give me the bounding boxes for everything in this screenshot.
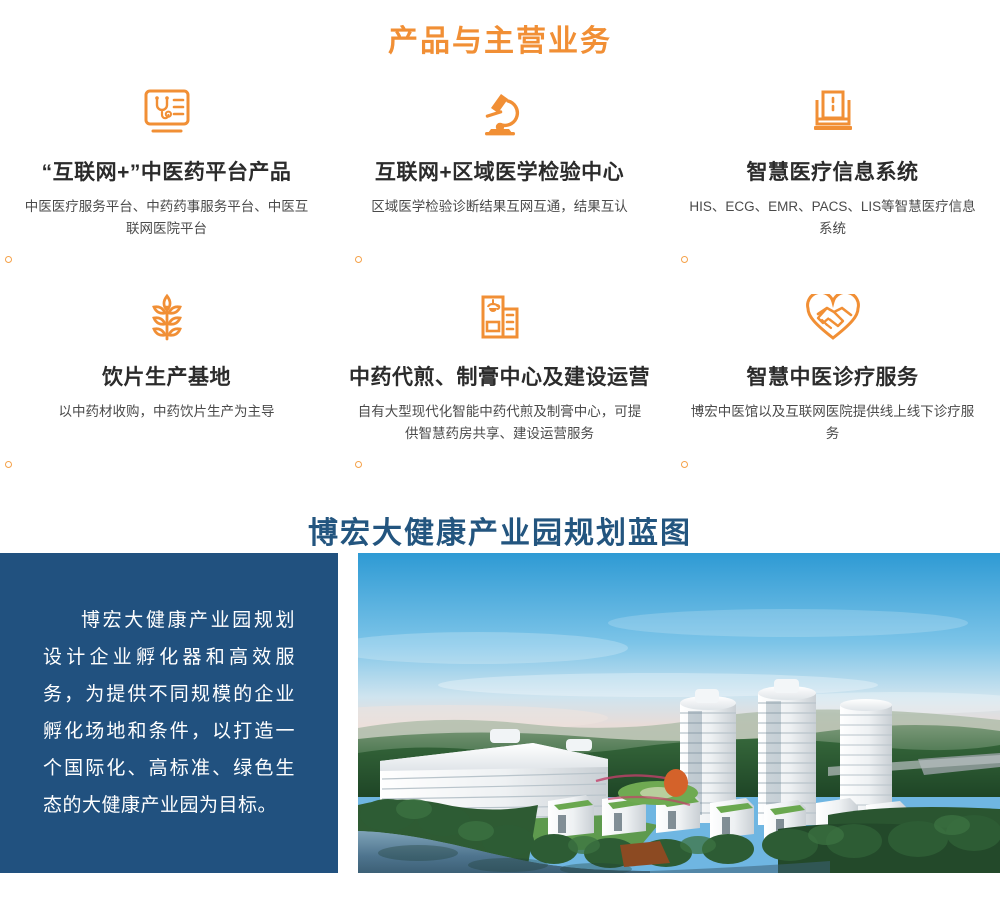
- products-row-1: “互联网+”中医药平台产品 中医医疗服务平台、中药药事服务平台、中医互联网医院平…: [0, 76, 1000, 240]
- product-card-internet-tcm-platform[interactable]: “互联网+”中医药平台产品 中医医疗服务平台、中药药事服务平台、中医互联网医院平…: [0, 76, 333, 240]
- divider-5: [333, 461, 666, 468]
- blueprint-section-title: 博宏大健康产业园规划蓝图: [0, 468, 1000, 554]
- card-description: 博宏中医馆以及互联网医院提供线上线下诊疗服务: [688, 401, 978, 445]
- product-card-tcm-clinic-service[interactable]: 智慧中医诊疗服务 博宏中医馆以及互联网医院提供线上线下诊疗服务: [666, 281, 999, 445]
- products-grid: “互联网+”中医药平台产品 中医医疗服务平台、中药药事服务平台、中医互联网医院平…: [0, 76, 1000, 468]
- divider-dot-icon: [681, 461, 688, 468]
- microscope-icon: [475, 82, 525, 144]
- server-cabinet-icon: [808, 82, 858, 144]
- divider-row-1: [0, 256, 1000, 263]
- divider-1: [0, 256, 333, 263]
- divider-dot-icon: [681, 256, 688, 263]
- divider-4: [0, 461, 333, 468]
- card-title: 饮片生产基地: [102, 363, 231, 393]
- building-teapot-icon: [475, 287, 525, 349]
- blueprint-block: 博宏大健康产业园规划设计企业孵化器和高效服务，为提供不同规模的企业孵化场地和条件…: [0, 553, 1000, 873]
- blueprint-text-panel: 博宏大健康产业园规划设计企业孵化器和高效服务，为提供不同规模的企业孵化场地和条件…: [0, 553, 338, 873]
- card-description: 中医医疗服务平台、中药药事服务平台、中医互联网医院平台: [22, 196, 312, 240]
- card-title: 互联网+区域医学检验中心: [375, 158, 624, 188]
- card-title: “互联网+”中医药平台产品: [42, 158, 292, 188]
- heart-handshake-icon: [805, 287, 861, 349]
- card-description: 区域医学检验诊断结果互网互通，结果互认: [371, 196, 628, 218]
- product-card-decoction-base[interactable]: 饮片生产基地 以中药材收购，中药饮片生产为主导: [0, 281, 333, 445]
- products-row-2: 饮片生产基地 以中药材收购，中药饮片生产为主导: [0, 281, 1000, 445]
- divider-row-2: [0, 461, 1000, 468]
- product-card-smart-his[interactable]: 智慧医疗信息系统 HIS、ECG、EMR、PACS、LIS等智慧医疗信息系统: [666, 76, 999, 240]
- card-title: 智慧中医诊疗服务: [747, 363, 919, 393]
- card-title: 智慧医疗信息系统: [747, 158, 919, 188]
- industrial-park-aerial-rendering: [358, 553, 1000, 873]
- divider-dot-icon: [355, 256, 362, 263]
- card-description: 以中药材收购，中药饮片生产为主导: [59, 401, 275, 423]
- card-description: 自有大型现代化智能中药代煎及制膏中心，可提供智慧药房共享、建设运营服务: [355, 401, 645, 445]
- divider-3: [666, 256, 999, 263]
- divider-dot-icon: [355, 461, 362, 468]
- blueprint-panel-text: 博宏大健康产业园规划设计企业孵化器和高效服务，为提供不同规模的企业孵化场地和条件…: [43, 602, 295, 824]
- divider-dot-icon: [5, 256, 12, 263]
- products-section-title: 产品与主营业务: [0, 0, 1000, 62]
- card-title: 中药代煎、制膏中心及建设运营: [349, 363, 650, 393]
- product-card-decoction-center[interactable]: 中药代煎、制膏中心及建设运营 自有大型现代化智能中药代煎及制膏中心，可提供智慧药…: [333, 281, 666, 445]
- product-card-lab-center[interactable]: 互联网+区域医学检验中心 区域医学检验诊断结果互网互通，结果互认: [333, 76, 666, 240]
- wheat-sprig-icon: [143, 287, 191, 349]
- medical-record-monitor-icon: [141, 82, 193, 144]
- divider-6: [666, 461, 999, 468]
- card-description: HIS、ECG、EMR、PACS、LIS等智慧医疗信息系统: [688, 196, 978, 240]
- divider-2: [333, 256, 666, 263]
- divider-dot-icon: [5, 461, 12, 468]
